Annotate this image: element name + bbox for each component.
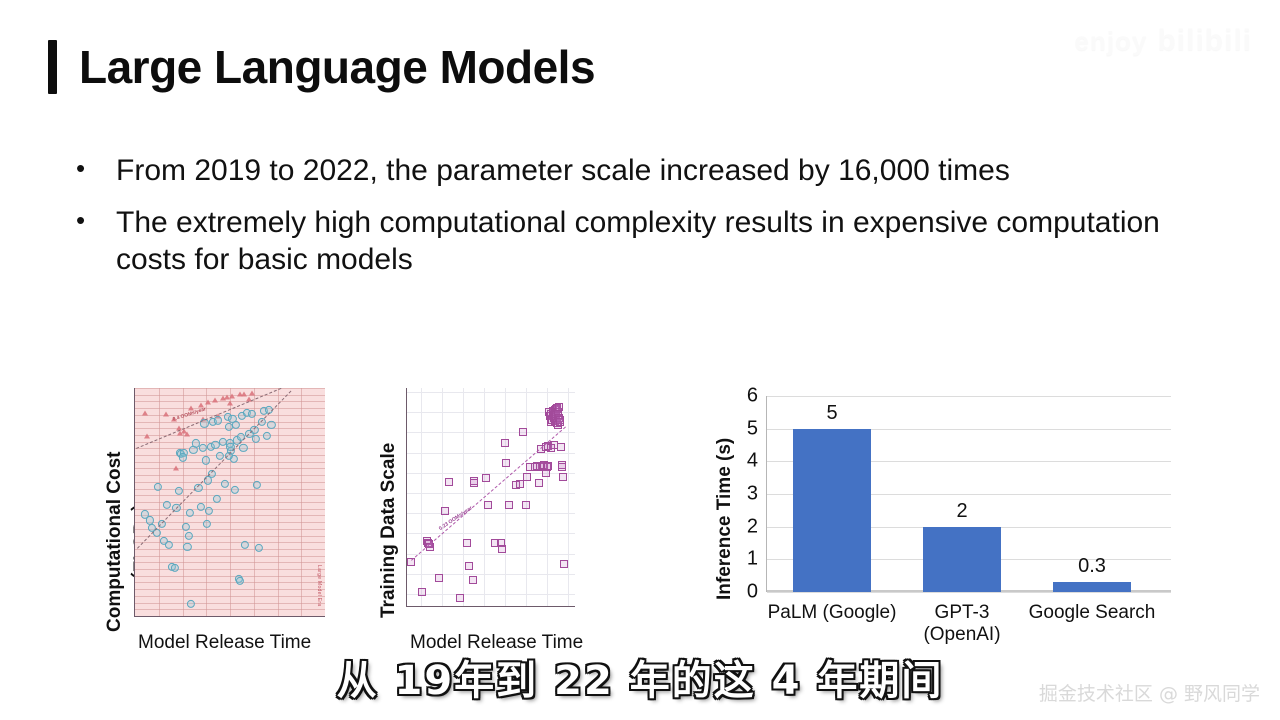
- chart2-point-square: [445, 478, 453, 486]
- slide-title-row: Large Language Models: [48, 40, 595, 94]
- chart-inference-time: Inference Time (s) 65432105PaLM (Google)…: [700, 388, 1170, 658]
- chart2-point-square: [441, 507, 449, 515]
- chart2-point-square: [547, 444, 555, 452]
- chart2-point-square: [456, 594, 464, 602]
- chart3-gridline: [767, 592, 1171, 593]
- chart3-category-label: GPT-3(OpenAI): [923, 602, 1000, 646]
- slide-canvas: Large Language Models • From 2019 to 202…: [0, 0, 1280, 720]
- chart-training-data-scale: Training Data Scale 1e+131e+111e+91e+71e…: [362, 380, 612, 680]
- chart1-point-triangle: [184, 432, 190, 437]
- chart2-point-square: [502, 459, 510, 467]
- chart3-bar: [923, 527, 1001, 592]
- chart2-point-square: [498, 545, 506, 553]
- chart3-y-tick: 3: [747, 483, 758, 506]
- chart2-gridline: [407, 432, 575, 433]
- chart2-point-square: [435, 574, 443, 582]
- chart1-point-triangle: [249, 390, 255, 395]
- chart2-gridline: [421, 388, 422, 606]
- bullet-text: The extremely high computational complex…: [116, 204, 1180, 279]
- chart1-point-circle: [214, 416, 222, 424]
- chart1-point-circle: [178, 453, 186, 461]
- chart2-point-square: [535, 479, 543, 487]
- chart3-plot-area: 65432105PaLM (Google)2GPT-3(OpenAI)0.3Go…: [766, 396, 1157, 592]
- chart2-gridline: [407, 453, 575, 454]
- chart2-point-square: [482, 474, 490, 482]
- chart2-point-square: [559, 473, 567, 481]
- chart2-gridline: [568, 388, 569, 606]
- chart2-gridline: [526, 388, 527, 606]
- chart2-point-square: [556, 418, 564, 426]
- chart2-point-square: [516, 480, 524, 488]
- chart2-point-square: [558, 463, 566, 471]
- chart2-point-square: [542, 469, 550, 477]
- chart1-point-triangle: [227, 401, 233, 406]
- chart1-point-triangle: [242, 391, 248, 396]
- chart1-gridline: [159, 388, 160, 616]
- chart1-point-triangle: [212, 398, 218, 403]
- chart2-point-square: [519, 428, 527, 436]
- community-watermark: 掘金技术社区 @ 野风同学: [1039, 679, 1260, 706]
- chart3-bar: [1053, 582, 1131, 592]
- chart3-y-tick: 2: [747, 515, 758, 538]
- chart2-gridline: [407, 533, 575, 534]
- chart2-point-square: [465, 562, 473, 570]
- chart2-point-square: [560, 560, 568, 568]
- chart2-gridline: [407, 594, 575, 595]
- chart3-y-tick: 6: [747, 385, 758, 408]
- chart3-y-tick: 4: [747, 450, 758, 473]
- chart2-point-square: [463, 539, 471, 547]
- bullet-marker-icon: •: [70, 204, 116, 237]
- chart2-gridline: [407, 493, 575, 494]
- chart2-point-square: [557, 443, 565, 451]
- chart1-gridline: [301, 388, 302, 616]
- chart1-point-circle: [187, 600, 195, 608]
- chart1-point-triangle: [164, 412, 170, 417]
- chart2-point-square: [418, 588, 426, 596]
- chart1-point-circle: [239, 444, 247, 452]
- chart2-gridline: [463, 388, 464, 606]
- chart1-point-circle: [171, 564, 179, 572]
- chart1-point-circle: [203, 519, 211, 527]
- chart2-point-square: [555, 403, 563, 411]
- chart3-category-label: PaLM (Google): [768, 602, 897, 624]
- chart-computational-cost: Computational Cost （FLOPs） 1e+241e+231e+…: [86, 384, 336, 664]
- chart2-gridline: [407, 574, 575, 575]
- chart2-point-square: [505, 501, 513, 509]
- figures-row: Computational Cost （FLOPs） 1e+241e+231e+…: [0, 378, 1280, 678]
- bilibili-watermark: enjoybilibili: [1074, 24, 1252, 58]
- chart1-point-circle: [184, 532, 192, 540]
- chart1-gridline: [254, 388, 255, 616]
- chart1-point-circle: [248, 410, 256, 418]
- chart1-point-circle: [205, 507, 213, 515]
- chart1-point-circle: [231, 486, 239, 494]
- chart1-point-triangle: [173, 466, 179, 471]
- chart2-point-square: [484, 501, 492, 509]
- chart3-bar-value: 5: [826, 402, 837, 425]
- watermark-text: enjoy: [1074, 26, 1147, 56]
- chart2-point-square: [522, 501, 530, 509]
- chart1-era-label: Large Model Era: [316, 565, 322, 606]
- chart2-gridline: [407, 554, 575, 555]
- chart1-gridline: [278, 388, 279, 616]
- bullet-list: • From 2019 to 2022, the parameter scale…: [70, 152, 1180, 293]
- chart3-y-tick: 0: [747, 581, 758, 604]
- chart1-point-triangle: [144, 433, 150, 438]
- chart1-y-axis-label-line1: Computational Cost: [104, 452, 125, 633]
- chart1-plot-area: 1e+241e+231e+221e+211e+201e+191e+181e+17…: [134, 388, 325, 617]
- chart2-gridline: [407, 392, 575, 393]
- bullet-marker-icon: •: [70, 152, 116, 185]
- chart1-point-circle: [255, 544, 263, 552]
- chart2-point-square: [470, 479, 478, 487]
- chart2-gridline: [407, 513, 575, 514]
- chart3-gridline: [767, 396, 1171, 397]
- watermark-brand: bilibili: [1157, 24, 1252, 57]
- chart2-plot-area: 1e+131e+111e+91e+71e+51e+320042010201620…: [406, 388, 575, 607]
- chart1-point-circle: [262, 432, 270, 440]
- chart2-y-axis-label: Training Data Scale: [378, 443, 400, 618]
- title-accent-bar: [48, 40, 57, 94]
- chart3-y-tick: 1: [747, 548, 758, 571]
- chart3-bar-value: 0.3: [1078, 555, 1106, 578]
- chart3-category-label: Google Search: [1029, 602, 1156, 624]
- chart1-point-triangle: [229, 393, 235, 398]
- chart1-point-triangle: [142, 410, 148, 415]
- chart3-bar-value: 2: [956, 500, 967, 523]
- chart1-point-triangle: [205, 399, 211, 404]
- chart2-point-square: [501, 439, 509, 447]
- page-title: Large Language Models: [79, 44, 595, 90]
- chart3-bar: [793, 429, 871, 592]
- chart1-point-circle: [202, 456, 210, 464]
- chart1-point-circle: [221, 479, 229, 487]
- list-item: • The extremely high computational compl…: [70, 204, 1180, 279]
- chart2-point-square: [523, 473, 531, 481]
- chart2-gridline: [505, 388, 506, 606]
- chart3-y-tick: 5: [747, 417, 758, 440]
- list-item: • From 2019 to 2022, the parameter scale…: [70, 152, 1180, 190]
- chart3-y-axis-label: Inference Time (s): [714, 438, 736, 600]
- bullet-text: From 2019 to 2022, the parameter scale i…: [116, 152, 1010, 190]
- chart2-point-square: [469, 576, 477, 584]
